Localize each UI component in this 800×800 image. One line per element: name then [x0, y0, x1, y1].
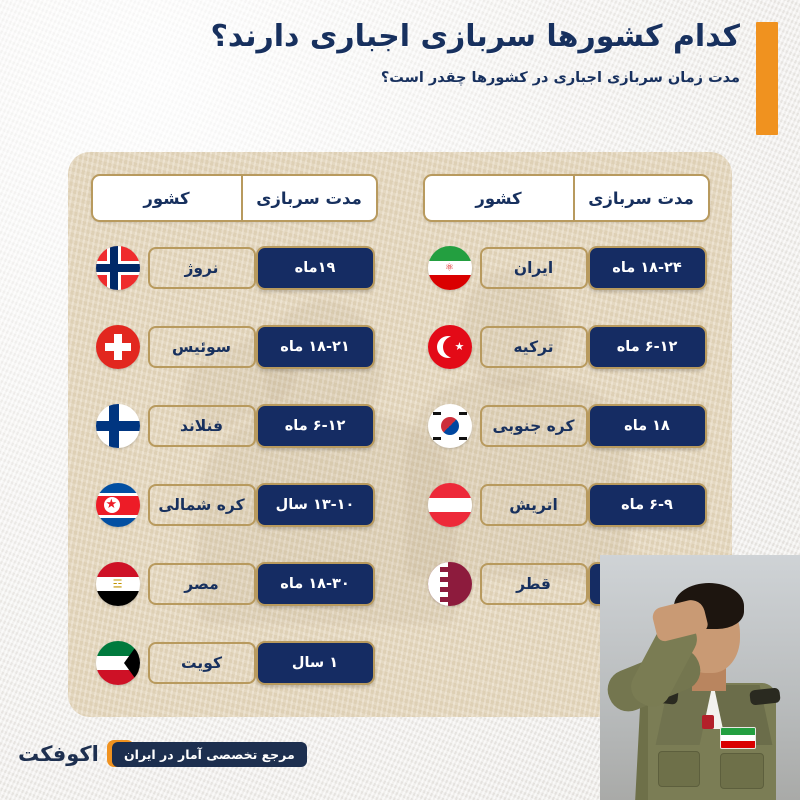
duration-badge: ۱۹ماه — [256, 246, 375, 290]
table-row[interactable]: ۶-۱۲ ماه فنلاند — [68, 406, 400, 446]
turkey-flag-icon: ★ — [428, 325, 472, 369]
table-row[interactable]: ۱ سال کویت — [68, 643, 400, 683]
duration-badge: ۶-۹ ماه — [588, 483, 707, 527]
header: کدام کشورها سربازی اجباری دارند؟ مدت زما… — [0, 0, 800, 150]
table-right-rows: ۱۸-۲۴ ماه ایران ⚛ ۶-۱۲ ماه ترکیه — [400, 248, 732, 604]
egypt-flag-icon: ☲ — [96, 562, 140, 606]
header-divider — [241, 176, 243, 220]
table-left: مدت سربازی کشور ۱۹ماه نروژ — [68, 152, 400, 717]
logo-text: اکوفکت — [18, 742, 99, 766]
title-block: کدام کشورها سربازی اجباری دارند؟ مدت زما… — [210, 18, 740, 86]
table-row[interactable]: ۱۸ ماه کره جنوبی — [400, 406, 732, 446]
table-row[interactable]: ۱۳-۱۰ سال کره شمالی ★ — [68, 485, 400, 525]
country-label: کره شمالی — [148, 484, 256, 526]
header-divider — [573, 176, 575, 220]
south-korea-flag-icon — [428, 404, 472, 448]
soldier-epaulette-right — [749, 687, 780, 705]
table-row[interactable]: ۶-۹ ماه اتریش — [400, 485, 732, 525]
duration-badge: ۱۳-۱۰ سال — [256, 483, 375, 527]
country-label: ترکیه — [480, 326, 588, 368]
country-label: کره جنوبی — [480, 405, 588, 447]
duration-badge: ۱۸ ماه — [588, 404, 707, 448]
header-duration: مدت سربازی — [575, 176, 708, 220]
header-country: کشور — [93, 176, 241, 220]
page-title: کدام کشورها سربازی اجباری دارند؟ — [210, 18, 740, 56]
table-left-rows: ۱۹ماه نروژ ۱۸- — [68, 248, 400, 683]
table-row[interactable]: ۱۸-۲۴ ماه ایران ⚛ — [400, 248, 732, 288]
austria-flag-icon — [428, 483, 472, 527]
qatar-flag-icon — [428, 562, 472, 606]
table-right-header-row: مدت سربازی کشور — [423, 174, 710, 222]
kuwait-flag-icon — [96, 641, 140, 685]
duration-badge: ۶-۱۲ ماه — [256, 404, 375, 448]
header-country: کشور — [425, 176, 573, 220]
finland-flag-icon — [96, 404, 140, 448]
iran-flag-icon: ⚛ — [428, 246, 472, 290]
title-accent-bar — [756, 22, 778, 135]
footer: اکوفکت مرجع تخصصی آمار در ایران — [0, 728, 800, 800]
country-label: قطر — [480, 563, 588, 605]
country-label: مصر — [148, 563, 256, 605]
norway-flag-icon — [96, 246, 140, 290]
country-label: ایران — [480, 247, 588, 289]
duration-badge: ۱۸-۲۴ ماه — [588, 246, 707, 290]
country-label: نروژ — [148, 247, 256, 289]
duration-badge: ۱۸-۳۰ ماه — [256, 562, 375, 606]
country-label: سوئیس — [148, 326, 256, 368]
country-label: فنلاند — [148, 405, 256, 447]
switzerland-flag-icon — [96, 325, 140, 369]
north-korea-flag-icon: ★ — [96, 483, 140, 527]
country-label: کویت — [148, 642, 256, 684]
duration-badge: ۶-۱۲ ماه — [588, 325, 707, 369]
infographic-page: کدام کشورها سربازی اجباری دارند؟ مدت زما… — [0, 0, 800, 800]
header-duration: مدت سربازی — [243, 176, 376, 220]
table-row[interactable]: ۱۸-۲۱ ماه سوئیس — [68, 327, 400, 367]
table-row[interactable]: ۶-۱۲ ماه ترکیه ★ — [400, 327, 732, 367]
table-left-header-row: مدت سربازی کشور — [91, 174, 378, 222]
soldier-rank-insignia — [702, 715, 714, 729]
table-row[interactable]: ۱۹ماه نروژ — [68, 248, 400, 288]
table-row[interactable]: ۱۸-۳۰ ماه مصر ☲ — [68, 564, 400, 604]
duration-badge: ۱ سال — [256, 641, 375, 685]
country-label: اتریش — [480, 484, 588, 526]
duration-badge: ۱۸-۲۱ ماه — [256, 325, 375, 369]
footer-tagline: مرجع تخصصی آمار در ایران — [112, 742, 307, 767]
page-subtitle: مدت زمان سربازی اجباری در کشورها چقدر اس… — [210, 70, 740, 86]
